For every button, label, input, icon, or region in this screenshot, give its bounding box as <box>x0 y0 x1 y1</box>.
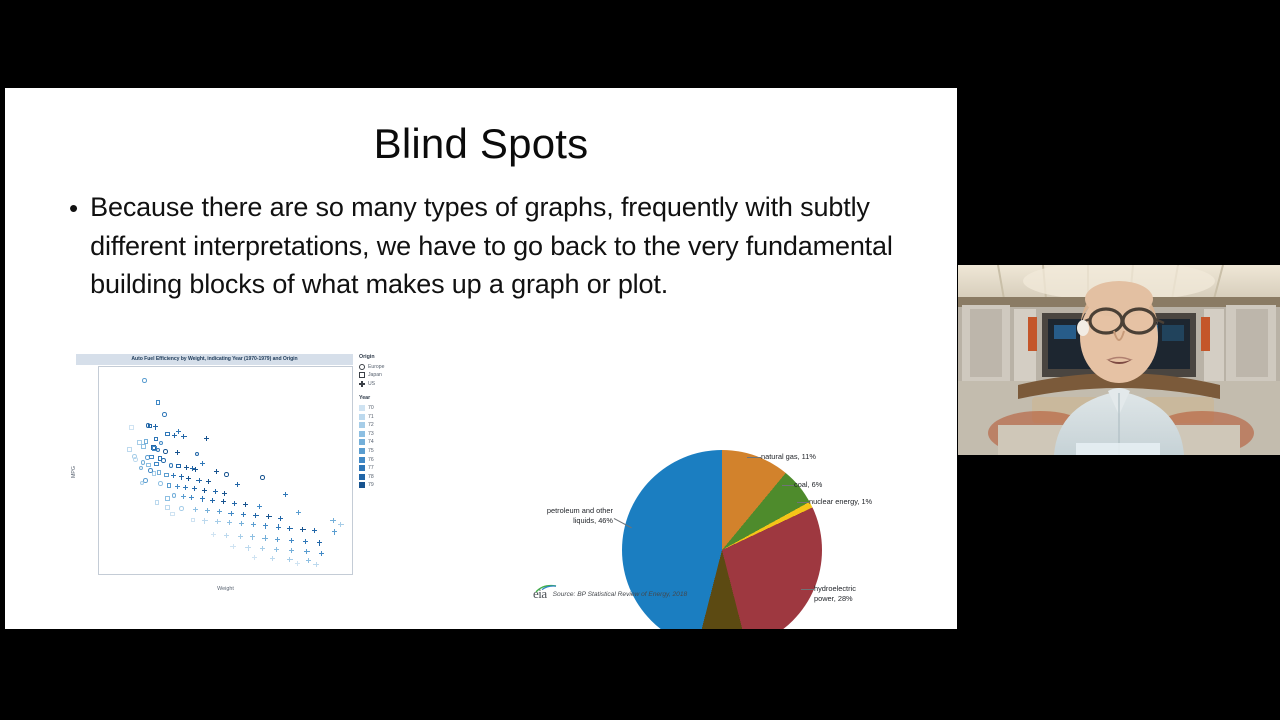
scatter-point <box>154 437 159 442</box>
scatter-point <box>171 473 176 478</box>
scatter-point <box>312 528 317 533</box>
scatter-point <box>169 463 174 468</box>
scatter-point <box>195 452 200 457</box>
legend-item-label: Europe <box>368 364 384 370</box>
scatter-y-axis-label: MPG <box>71 466 77 478</box>
legend-item-label: 74 <box>368 439 374 445</box>
legend-item-label: 79 <box>368 482 374 488</box>
scatter-point <box>213 489 218 494</box>
pie-chart <box>622 450 822 629</box>
scatter-point <box>283 492 288 497</box>
legend-item-year-73[interactable]: 73 <box>359 430 429 439</box>
legend-item-year-76[interactable]: 76 <box>359 455 429 464</box>
source-attribution: eia Source: BP Statistical Review of Ene… <box>533 586 687 602</box>
scatter-point <box>270 556 275 561</box>
scatter-point <box>304 549 309 554</box>
legend-item-label: 73 <box>368 431 374 437</box>
legend-item-label: 72 <box>368 422 374 428</box>
pie-label-petroleum: petroleum and other liquids, 46% <box>525 506 613 525</box>
scatter-point <box>167 483 172 488</box>
scatter-point <box>217 509 222 514</box>
scatter-point <box>245 545 250 550</box>
scatter-point <box>153 424 158 429</box>
legend-item-year-78[interactable]: 78 <box>359 473 429 482</box>
scatter-point <box>175 450 180 455</box>
scatter-point <box>154 462 159 467</box>
scatter-point <box>224 533 229 538</box>
scatter-point <box>193 507 198 512</box>
scatter-point <box>141 444 146 449</box>
scatter-chart-title: Auto Fuel Efficiency by Weight, indicati… <box>76 354 353 365</box>
legend-year-title: Year <box>359 395 429 401</box>
scatter-point <box>276 524 281 529</box>
scatter-point <box>295 561 300 566</box>
scatter-point <box>205 508 210 513</box>
scatter-point <box>149 455 154 460</box>
scatter-point <box>193 467 198 472</box>
scatter-point <box>222 491 227 496</box>
y-axis-tick-mark <box>98 400 99 401</box>
video-frame <box>958 265 1280 455</box>
scatter-point <box>274 547 279 552</box>
scatter-point <box>164 473 169 478</box>
scatter-point <box>211 532 216 537</box>
bullet-text: Because there are so many types of graph… <box>90 188 899 304</box>
pie-label-nuclear-energy: nuclear energy, 1% <box>809 497 872 507</box>
scatter-point <box>159 441 164 446</box>
scatter-point <box>148 424 153 429</box>
scatter-point <box>200 461 205 466</box>
scatter-point <box>156 448 161 453</box>
color-swatch <box>359 482 365 488</box>
scatter-point <box>127 447 132 452</box>
scatter-point <box>162 412 167 417</box>
scatter-point <box>330 518 335 523</box>
scatter-point <box>332 529 337 534</box>
scatter-point <box>296 510 301 515</box>
scatter-point <box>165 505 170 510</box>
scatter-point <box>230 544 235 549</box>
scatter-point <box>241 512 246 517</box>
scatter-point <box>181 434 186 439</box>
scatter-point <box>215 519 220 524</box>
scatter-point <box>184 465 189 470</box>
scatter-point <box>278 516 283 521</box>
legend-item-year-75[interactable]: 75 <box>359 447 429 456</box>
legend-item-label: US <box>368 381 375 387</box>
scatter-point <box>183 485 188 490</box>
scatter-x-axis-label: Weight <box>98 586 353 592</box>
scatter-point <box>263 523 268 528</box>
scatter-point <box>202 518 207 523</box>
y-axis-tick-mark <box>98 565 99 566</box>
scatter-point <box>257 504 262 509</box>
scatter-point <box>313 562 318 567</box>
scatter-point <box>287 526 292 531</box>
color-swatch <box>359 448 365 454</box>
scatter-legend: Origin EuropeJapanUS Year 70717273747576… <box>359 354 429 490</box>
scatter-point <box>238 534 243 539</box>
scatter-point <box>146 463 151 468</box>
scatter-point <box>142 378 147 383</box>
legend-item-europe[interactable]: Europe <box>359 363 429 372</box>
scatter-point <box>157 470 162 475</box>
color-swatch <box>359 465 365 471</box>
scatter-point <box>176 429 181 434</box>
scatter-point <box>251 522 256 527</box>
scatter-point <box>202 488 207 493</box>
scatter-point <box>163 449 168 454</box>
legend-item-label: 75 <box>368 448 374 454</box>
pie-label-hydroelectric-power: hydroelectric power, 28% <box>814 584 856 603</box>
scatter-point <box>165 432 170 437</box>
scatter-point <box>260 546 265 551</box>
legend-item-label: 71 <box>368 414 374 420</box>
scatter-point <box>252 555 257 560</box>
pie-label-natural-gas: natural gas, 11% <box>761 452 816 462</box>
scatter-point <box>253 513 258 518</box>
y-axis-tick-mark <box>98 538 99 539</box>
source-text: Source: BP Statistical Review of Energy,… <box>553 591 688 598</box>
legend-year-entries: 70717273747576777879 <box>359 404 429 490</box>
plus-marker-icon <box>359 381 365 387</box>
scatter-point <box>176 464 181 469</box>
scatter-point <box>200 496 205 501</box>
scatter-point <box>141 460 146 465</box>
legend-item-label: Japan <box>368 372 382 378</box>
leader-line-natural-gas <box>747 457 761 458</box>
color-swatch <box>359 422 365 428</box>
legend-item-label: 70 <box>368 405 374 411</box>
scatter-point <box>214 469 219 474</box>
presentation-slide: Blind Spots • Because there are so many … <box>5 88 957 629</box>
legend-item-year-71[interactable]: 71 <box>359 412 429 421</box>
legend-item-year-70[interactable]: 70 <box>359 404 429 413</box>
leader-line-nuclear <box>797 502 809 503</box>
scatter-point <box>266 514 271 519</box>
scatter-point <box>227 520 232 525</box>
scatter-point <box>196 478 201 483</box>
scatter-point <box>156 400 161 405</box>
scatter-point <box>189 495 194 500</box>
pie-label-coal: coal, 6% <box>794 480 822 490</box>
page-title: Blind Spots <box>5 120 957 168</box>
scatter-point <box>181 494 186 499</box>
legend-item-year-77[interactable]: 77 <box>359 464 429 473</box>
scatter-point <box>262 535 267 540</box>
scatter-point <box>224 472 229 477</box>
leader-line-hydro <box>801 589 814 590</box>
scatter-point <box>170 512 175 517</box>
circle-marker-icon <box>359 364 365 370</box>
scatter-point <box>250 534 255 539</box>
scatter-point <box>319 551 324 556</box>
scatter-point <box>235 482 240 487</box>
scatter-point <box>232 501 237 506</box>
scatter-point <box>191 518 196 523</box>
eia-arc-icon <box>535 584 557 593</box>
scatter-point <box>192 486 197 491</box>
scatter-point <box>317 540 322 545</box>
scatter-point <box>186 476 191 481</box>
scatter-point <box>140 481 145 486</box>
scatter-point <box>165 496 170 501</box>
color-swatch <box>359 474 365 480</box>
scatter-point <box>287 557 292 562</box>
scatter-point <box>204 436 209 441</box>
color-swatch <box>359 405 365 411</box>
legend-item-year-72[interactable]: 72 <box>359 421 429 430</box>
scatter-point <box>139 466 144 471</box>
y-axis-tick-mark <box>98 510 99 511</box>
scatter-point <box>158 481 163 486</box>
scatter-point <box>260 475 265 480</box>
legend-item-year-74[interactable]: 74 <box>359 438 429 447</box>
color-swatch <box>359 457 365 463</box>
y-axis-tick-mark <box>98 428 99 429</box>
scatter-point <box>206 479 211 484</box>
legend-item-label: 76 <box>368 457 374 463</box>
eia-logo-icon: eia <box>533 586 547 602</box>
scatter-point <box>338 522 343 527</box>
legend-item-label: 77 <box>368 465 374 471</box>
scatter-point <box>289 538 294 543</box>
scatter-point <box>161 458 166 463</box>
scatter-point <box>148 468 153 473</box>
scatter-point <box>303 539 308 544</box>
leader-line-coal <box>782 485 794 486</box>
legend-item-japan[interactable]: Japan <box>359 371 429 380</box>
pie-chart-figure: natural gas, 11% coal, 6% nuclear energy… <box>525 350 945 616</box>
scatter-point <box>155 500 160 505</box>
scatter-point <box>172 493 177 498</box>
color-swatch <box>359 414 365 420</box>
scatter-point <box>210 498 215 503</box>
color-swatch <box>359 439 365 445</box>
bullet-paragraph: • Because there are so many types of gra… <box>69 188 899 304</box>
scatter-point <box>221 499 226 504</box>
scatter-point <box>289 548 294 553</box>
legend-item-year-79[interactable]: 79 <box>359 481 429 490</box>
scatter-point <box>133 457 138 462</box>
legend-item-label: 78 <box>368 474 374 480</box>
y-axis-tick-mark <box>98 373 99 374</box>
scatter-plot-area: 4540353025201510150020002500300035004000… <box>98 366 353 575</box>
scatter-chart-figure: Auto Fuel Efficiency by Weight, indicati… <box>71 354 431 616</box>
scatter-point <box>179 506 184 511</box>
scatter-point <box>243 502 248 507</box>
scatter-point <box>300 527 305 532</box>
legend-origin-title: Origin <box>359 354 429 360</box>
scatter-point <box>175 484 180 489</box>
y-axis-tick-mark <box>98 483 99 484</box>
scatter-point <box>239 521 244 526</box>
scatter-point <box>275 537 280 542</box>
color-swatch <box>359 431 365 437</box>
scatter-point <box>144 439 149 444</box>
scatter-point <box>306 558 311 563</box>
legend-item-us[interactable]: US <box>359 380 429 389</box>
screen-root: Blind Spots • Because there are so many … <box>0 0 1280 720</box>
scatter-point <box>179 474 184 479</box>
scatter-point <box>228 511 233 516</box>
scatter-point <box>129 425 134 430</box>
bullet-marker-icon: • <box>69 189 78 304</box>
y-axis-tick-mark <box>98 455 99 456</box>
legend-origin-entries: EuropeJapanUS <box>359 363 429 389</box>
presenter-video-tile[interactable] <box>958 265 1280 455</box>
square-marker-icon <box>359 372 365 378</box>
